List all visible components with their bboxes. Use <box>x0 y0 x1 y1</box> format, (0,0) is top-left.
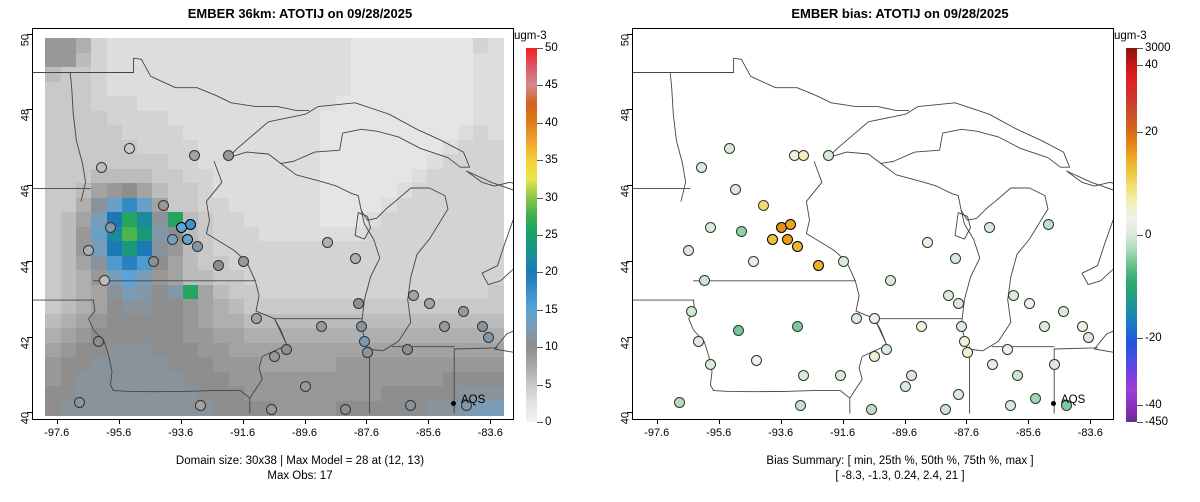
model-colorbar: ugm-3 05101520253035404550 <box>514 30 600 430</box>
observation-site-marker[interactable] <box>350 253 361 264</box>
model-grid-cell <box>458 343 474 358</box>
bias-caption-line2: [ -8.3, -1.3, 0.24, 2.4, 21 ] <box>600 470 1200 482</box>
model-grid-cell <box>213 270 229 285</box>
model-grid-cell <box>152 53 168 68</box>
model-grid-cell <box>320 198 336 213</box>
observation-site-marker[interactable] <box>477 321 488 332</box>
model-grid-cell <box>488 140 504 155</box>
observation-site-marker[interactable] <box>767 234 778 245</box>
observation-site-marker[interactable] <box>1024 298 1035 309</box>
model-grid-cell <box>381 212 397 227</box>
observation-site-marker[interactable] <box>251 313 262 324</box>
colorbar-tick-label: 40 <box>1145 59 1158 71</box>
model-grid-cell <box>91 82 107 97</box>
y-axis-tick-label: 40 <box>619 412 631 424</box>
observation-site-marker[interactable] <box>686 306 697 317</box>
model-grid-cell <box>168 343 184 358</box>
observation-site-marker[interactable] <box>693 336 704 347</box>
model-grid-cell <box>137 125 153 140</box>
observation-site-marker[interactable] <box>1005 400 1016 411</box>
observation-site-marker[interactable] <box>795 400 806 411</box>
model-grid-cell <box>152 183 168 198</box>
model-grid-cell <box>183 82 199 97</box>
model-grid-cell <box>61 38 77 53</box>
model-grid-cell <box>473 212 489 227</box>
model-grid-cell <box>275 256 291 271</box>
x-axis-tick <box>657 419 658 424</box>
bias-map-plot[interactable]: AQS <box>632 28 1114 420</box>
observation-site-marker[interactable] <box>792 241 803 252</box>
model-grid-cell <box>168 111 184 126</box>
model-grid-cell <box>183 343 199 358</box>
model-grid-cell <box>443 343 459 358</box>
model-grid-cell <box>336 198 352 213</box>
model-grid-cell <box>412 227 428 242</box>
observation-site-marker[interactable] <box>266 404 277 415</box>
model-grid-cell <box>412 169 428 184</box>
observation-site-marker[interactable] <box>124 143 135 154</box>
colorbar-tick-label: 15 <box>545 304 558 316</box>
model-grid-cell <box>91 183 107 198</box>
colorbar-tick <box>537 272 543 273</box>
observation-site-marker[interactable] <box>785 219 796 230</box>
observation-site-marker[interactable] <box>962 347 973 358</box>
model-grid-cell <box>397 140 413 155</box>
model-grid-cell <box>45 299 61 314</box>
observation-site-marker[interactable] <box>1043 219 1054 230</box>
model-grid-cell <box>412 314 428 329</box>
x-axis-tick-label: -93.6 <box>768 427 793 439</box>
model-grid-cell <box>275 227 291 242</box>
observation-site-marker[interactable] <box>223 150 234 161</box>
colorbar-tick-label: 30 <box>545 192 558 204</box>
model-grid-cell <box>198 270 214 285</box>
model-grid-cell <box>183 125 199 140</box>
model-grid-cell <box>259 67 275 82</box>
observation-site-marker[interactable] <box>835 370 846 381</box>
model-grid-cell <box>137 96 153 111</box>
observation-site-marker[interactable] <box>696 162 707 173</box>
model-grid-cell <box>152 241 168 256</box>
model-grid-cell <box>320 299 336 314</box>
model-grid-cell <box>61 328 77 343</box>
model-grid-cell <box>168 386 184 401</box>
observation-site-marker[interactable] <box>699 275 710 286</box>
model-grid-cell <box>443 357 459 372</box>
model-grid-cell <box>259 256 275 271</box>
observation-site-marker[interactable] <box>683 245 694 256</box>
observation-site-marker[interactable] <box>733 325 744 336</box>
model-grid-cell <box>229 343 245 358</box>
model-grid-cell <box>320 111 336 126</box>
model-grid-cell <box>443 198 459 213</box>
colorbar-tick-label: 35 <box>545 154 558 166</box>
model-grid-cell <box>443 96 459 111</box>
x-axis-tick <box>905 419 906 424</box>
model-grid-cell <box>76 198 92 213</box>
observation-site-marker[interactable] <box>1083 332 1094 343</box>
observation-site-marker[interactable] <box>813 260 824 271</box>
x-axis-tick <box>119 419 120 424</box>
model-grid-cell <box>290 285 306 300</box>
model-grid-cell <box>137 328 153 343</box>
model-grid-cell <box>152 125 168 140</box>
model-grid-cell <box>443 140 459 155</box>
model-grid-cell <box>122 227 138 242</box>
model-grid-cell <box>183 357 199 372</box>
x-axis-tick <box>243 419 244 424</box>
model-grid-cell <box>443 82 459 97</box>
observation-site-marker[interactable] <box>798 370 809 381</box>
map-boundary-mn_nd <box>670 73 685 202</box>
observation-site-marker[interactable] <box>751 355 762 366</box>
y-axis-tick-label: 46 <box>619 185 631 197</box>
model-grid-cell <box>397 67 413 82</box>
observation-site-marker[interactable] <box>1058 306 1069 317</box>
model-grid-cell <box>473 140 489 155</box>
model-grid-cell <box>351 198 367 213</box>
observation-site-marker[interactable] <box>402 344 413 355</box>
model-grid-cell <box>259 314 275 329</box>
observation-site-marker[interactable] <box>458 306 469 317</box>
model-grid-cell <box>213 198 229 213</box>
model-grid-cell <box>137 270 153 285</box>
model-grid-cell <box>443 285 459 300</box>
model-grid-cell <box>198 299 214 314</box>
model-grid-cell <box>305 227 321 242</box>
observation-site-marker[interactable] <box>167 234 178 245</box>
model-grid-cell <box>336 154 352 169</box>
model-grid-cell <box>336 53 352 68</box>
model-grid-cell <box>381 285 397 300</box>
model-grid-cell <box>381 198 397 213</box>
model-grid-cell <box>198 111 214 126</box>
observation-site-marker[interactable] <box>424 298 435 309</box>
observation-site-marker[interactable] <box>950 253 961 264</box>
model-grid-cell <box>76 314 92 329</box>
colorbar-tick <box>537 198 543 199</box>
model-grid-cell <box>412 212 428 227</box>
model-grid-cell <box>397 82 413 97</box>
observation-site-marker[interactable] <box>195 400 206 411</box>
model-grid-cell <box>290 314 306 329</box>
model-grid-cell <box>122 154 138 169</box>
observation-site-marker[interactable] <box>1077 321 1088 332</box>
model-grid-cell <box>336 67 352 82</box>
model-grid-cell <box>366 67 382 82</box>
observation-site-marker[interactable] <box>356 321 367 332</box>
observation-site-marker[interactable] <box>959 336 970 347</box>
colorbar-tick <box>1137 422 1143 423</box>
observation-site-marker[interactable] <box>730 184 741 195</box>
model-grid-cell <box>290 198 306 213</box>
model-grid-cell <box>397 169 413 184</box>
model-grid-cell <box>320 140 336 155</box>
model-grid-cell <box>305 256 321 271</box>
model-grid-cell <box>488 357 504 372</box>
observation-site-marker[interactable] <box>674 397 685 408</box>
model-grid-cell <box>412 67 428 82</box>
model-colorbar-unit: ugm-3 <box>514 30 547 42</box>
model-grid-cell <box>137 198 153 213</box>
model-grid-cell <box>229 357 245 372</box>
model-grid-cell <box>351 212 367 227</box>
observation-site-marker[interactable] <box>758 200 769 211</box>
model-grid-cell <box>381 183 397 198</box>
observation-site-marker[interactable] <box>1049 359 1060 370</box>
observation-site-marker[interactable] <box>269 351 280 362</box>
model-grid-cell <box>213 111 229 126</box>
observation-site-marker[interactable] <box>916 321 927 332</box>
model-grid-cell <box>305 96 321 111</box>
model-grid-cell <box>137 82 153 97</box>
model-grid-cell <box>45 169 61 184</box>
observation-site-marker[interactable] <box>906 370 917 381</box>
model-grid-cell <box>152 111 168 126</box>
model-grid-cell <box>443 212 459 227</box>
observation-site-marker[interactable] <box>192 241 203 252</box>
observation-site-marker[interactable] <box>1039 321 1050 332</box>
model-grid-cell <box>122 270 138 285</box>
model-grid-cell <box>443 67 459 82</box>
map-boundary-ia_mo <box>714 391 850 399</box>
model-grid-cell <box>336 299 352 314</box>
model-grid-cell <box>351 67 367 82</box>
observation-site-marker[interactable] <box>792 321 803 332</box>
observation-site-marker[interactable] <box>866 404 877 415</box>
observation-site-marker[interactable] <box>93 336 104 347</box>
map-boundary-huron <box>1067 171 1114 285</box>
observation-site-marker[interactable] <box>900 381 911 392</box>
model-grid-cell <box>336 82 352 97</box>
model-grid-cell <box>168 169 184 184</box>
model-colorbar-gradient <box>526 48 537 422</box>
model-grid-cell <box>488 154 504 169</box>
model-grid-cell <box>61 256 77 271</box>
model-grid-cell <box>412 125 428 140</box>
x-axis-tick <box>1028 419 1029 424</box>
model-grid-cell <box>152 96 168 111</box>
model-grid-cell <box>290 169 306 184</box>
model-grid-cell <box>305 154 321 169</box>
x-axis-tick-label: -91.6 <box>830 427 855 439</box>
model-grid-cell <box>366 125 382 140</box>
observation-site-marker[interactable] <box>353 298 364 309</box>
observation-site-marker[interactable] <box>74 397 85 408</box>
observation-site-marker[interactable] <box>736 226 747 237</box>
model-grid-cell <box>336 386 352 401</box>
model-grid-cell <box>76 169 92 184</box>
model-grid-cell <box>275 82 291 97</box>
model-grid-cell <box>183 67 199 82</box>
observation-site-marker[interactable] <box>838 256 849 267</box>
model-grid-cell <box>427 82 443 97</box>
model-grid-cell <box>122 82 138 97</box>
model-grid-cell <box>244 82 260 97</box>
x-axis-tick <box>57 419 58 424</box>
model-grid-cell <box>336 96 352 111</box>
observation-site-marker[interactable] <box>1012 370 1023 381</box>
observation-site-marker[interactable] <box>724 143 735 154</box>
observation-site-marker[interactable] <box>158 200 169 211</box>
model-grid-cell <box>168 53 184 68</box>
model-grid-cell <box>137 111 153 126</box>
model-grid-cell <box>137 212 153 227</box>
model-grid-cell <box>320 270 336 285</box>
model-grid-cell <box>168 256 184 271</box>
observation-site-marker[interactable] <box>359 336 370 347</box>
model-grid-cell <box>275 241 291 256</box>
observation-site-marker[interactable] <box>189 150 200 161</box>
model-grid-cell <box>290 183 306 198</box>
model-grid-cell <box>427 183 443 198</box>
model-grid-cell <box>229 198 245 213</box>
model-map-plot[interactable]: AQS <box>32 28 514 420</box>
colorbar-tick-label: 40 <box>545 117 558 129</box>
observation-site-marker[interactable] <box>483 332 494 343</box>
map-boundary-canada_line <box>633 58 909 110</box>
model-grid-cell <box>122 241 138 256</box>
observation-site-marker[interactable] <box>869 351 880 362</box>
model-grid-cell <box>152 212 168 227</box>
model-grid-cell <box>305 111 321 126</box>
observation-site-marker[interactable] <box>798 150 809 161</box>
x-axis-tick-label: -93.6 <box>168 427 193 439</box>
model-grid-cell <box>412 198 428 213</box>
observation-site-marker[interactable] <box>185 219 196 230</box>
model-grid-cell <box>320 67 336 82</box>
observation-site-marker[interactable] <box>885 275 896 286</box>
colorbar-tick <box>537 310 543 311</box>
x-axis-tick-label: -85.6 <box>1016 427 1041 439</box>
model-grid-cell <box>122 328 138 343</box>
observation-site-marker[interactable] <box>748 256 759 267</box>
model-grid-cell <box>91 96 107 111</box>
model-grid-cell <box>198 96 214 111</box>
observation-site-marker[interactable] <box>851 313 862 324</box>
observation-site-marker[interactable] <box>953 298 964 309</box>
model-grid-cell <box>244 169 260 184</box>
model-grid-cell <box>45 183 61 198</box>
model-grid-cell <box>458 357 474 372</box>
model-grid-cell <box>91 357 107 372</box>
y-axis-tick-label: 40 <box>19 412 31 424</box>
model-grid-cell <box>351 82 367 97</box>
observation-site-marker[interactable] <box>987 359 998 370</box>
observation-site-marker[interactable] <box>1002 344 1013 355</box>
model-grid-cell <box>76 212 92 227</box>
model-grid-cell <box>198 53 214 68</box>
model-grid-cell <box>259 183 275 198</box>
observation-site-marker[interactable] <box>823 150 834 161</box>
model-grid-cell <box>244 154 260 169</box>
model-grid-cell <box>275 183 291 198</box>
model-grid-cell <box>443 38 459 53</box>
x-axis-tick <box>305 419 306 424</box>
model-grid-cell <box>183 256 199 271</box>
model-grid-cell <box>244 227 260 242</box>
model-grid-cell <box>45 38 61 53</box>
model-grid-cell <box>61 227 77 242</box>
colorbar-tick-label: -20 <box>1145 332 1162 344</box>
model-grid-cell <box>198 82 214 97</box>
model-grid-cell <box>122 96 138 111</box>
model-grid-cell <box>305 198 321 213</box>
observation-site-marker[interactable] <box>869 313 880 324</box>
model-grid-cell <box>244 212 260 227</box>
model-grid-cell <box>336 38 352 53</box>
model-grid-cell <box>381 67 397 82</box>
model-grid-cell <box>229 125 245 140</box>
model-grid-cell <box>305 343 321 358</box>
observation-site-marker[interactable] <box>1008 290 1019 301</box>
observation-site-marker[interactable] <box>705 359 716 370</box>
model-grid-cell <box>168 372 184 387</box>
model-grid-cell <box>305 38 321 53</box>
observation-site-marker[interactable] <box>943 290 954 301</box>
colorbar-tick-label: 10 <box>545 341 558 353</box>
observation-site-marker[interactable] <box>881 344 892 355</box>
model-grid-cell <box>76 328 92 343</box>
model-grid-cell <box>76 270 92 285</box>
model-grid-cell <box>183 314 199 329</box>
model-grid-cell <box>275 125 291 140</box>
model-grid-cell <box>259 299 275 314</box>
model-grid-cell <box>366 227 382 242</box>
model-grid-cell <box>152 386 168 401</box>
model-grid-cell <box>275 270 291 285</box>
model-grid-cell <box>76 140 92 155</box>
model-grid-cell <box>397 183 413 198</box>
model-grid-cell <box>320 154 336 169</box>
observation-site-marker[interactable] <box>956 321 967 332</box>
model-grid-cell <box>488 125 504 140</box>
model-grid-cell <box>137 183 153 198</box>
observation-site-marker[interactable] <box>922 237 933 248</box>
observation-site-marker[interactable] <box>984 222 995 233</box>
observation-site-marker[interactable] <box>96 162 107 173</box>
model-grid-cell <box>381 125 397 140</box>
observation-site-marker[interactable] <box>705 222 716 233</box>
model-grid-cell <box>366 53 382 68</box>
observation-site-marker[interactable] <box>1030 393 1041 404</box>
model-grid-cell <box>168 198 184 213</box>
model-grid-cell <box>427 386 443 401</box>
model-grid-cell <box>397 96 413 111</box>
model-grid-cell <box>412 154 428 169</box>
x-axis-tick <box>490 419 491 424</box>
observation-site-marker[interactable] <box>953 389 964 400</box>
model-grid-cell <box>320 96 336 111</box>
model-grid-cell <box>488 314 504 329</box>
model-grid-cell <box>198 67 214 82</box>
model-grid-cell <box>473 169 489 184</box>
model-grid-cell <box>488 386 504 401</box>
observation-site-marker[interactable] <box>316 321 327 332</box>
model-grid-cell <box>458 372 474 387</box>
model-grid-cell <box>107 198 123 213</box>
model-grid-cell <box>91 256 107 271</box>
observation-site-marker[interactable] <box>940 404 951 415</box>
observation-site-marker[interactable] <box>281 344 292 355</box>
observation-site-marker[interactable] <box>99 275 110 286</box>
model-grid-cell <box>397 372 413 387</box>
bias-panel: EMBER bias: ATOTIJ on 09/28/2025 AQS -97… <box>600 0 1200 502</box>
model-grid-cell <box>122 198 138 213</box>
model-grid-cell <box>198 140 214 155</box>
model-grid-cell <box>45 285 61 300</box>
map-boundary-michigan <box>961 188 1048 351</box>
